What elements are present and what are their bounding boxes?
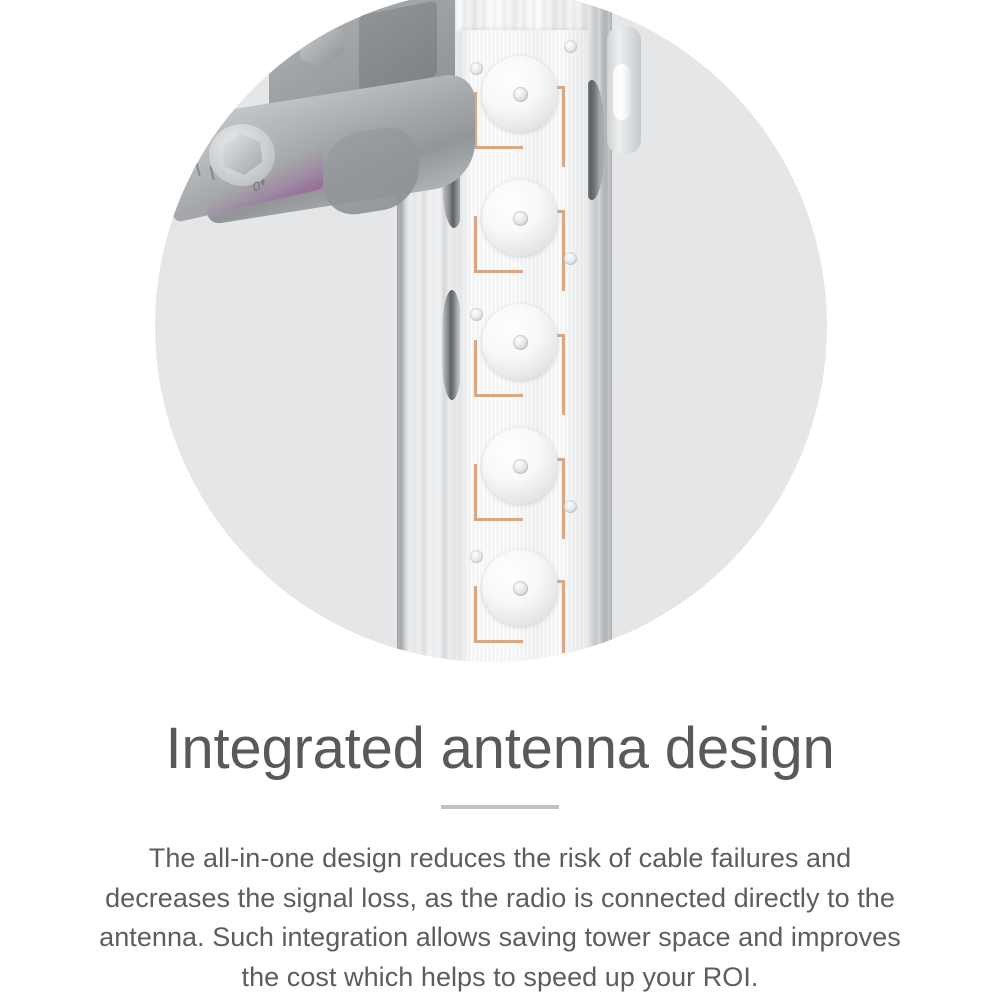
pcb-rivet [470, 62, 483, 75]
antenna-element [482, 550, 558, 626]
product-photo: 0° [155, 0, 827, 662]
product-feature-section: 0° Integrated antenna design The all-in-… [0, 0, 1000, 1000]
antenna-pcb-panel [460, 30, 588, 662]
antenna-element [482, 56, 558, 132]
antenna-element [482, 180, 558, 256]
feature-description: The all-in-one design reduces the risk o… [85, 839, 915, 997]
antenna-element [482, 304, 558, 380]
pcb-rivet [564, 252, 577, 265]
clamp-ear-slot [613, 64, 631, 120]
pcb-rivet [470, 550, 483, 563]
pcb-rivet [470, 308, 483, 321]
pcb-rivet [564, 500, 577, 513]
mounting-bracket: 0° [173, 0, 463, 242]
page-title: Integrated antenna design [0, 690, 1000, 779]
feature-text-block: Integrated antenna design The all-in-one… [0, 690, 1000, 997]
hero-product-image: 0° [0, 0, 1000, 690]
title-divider [441, 805, 559, 809]
pcb-rivet [564, 40, 577, 53]
antenna-element [482, 428, 558, 504]
